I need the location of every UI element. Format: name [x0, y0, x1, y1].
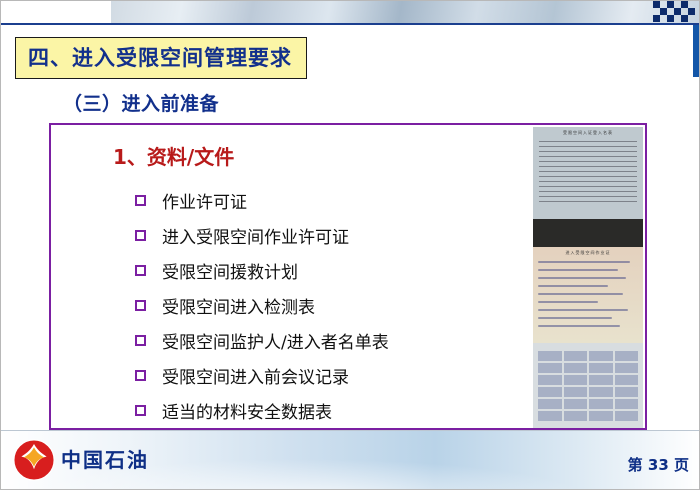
bullet-list: 作业许可证 进入受限空间作业许可证 受限空间援救计划 受限空间进入检测表 受限空…	[135, 183, 535, 428]
list-item: 适当的材料安全数据表	[135, 393, 535, 428]
square-bullet-icon	[135, 335, 146, 346]
list-item-label: 进入受限空间作业许可证	[162, 223, 349, 248]
right-accent-bar	[693, 25, 699, 77]
footer-bar: 中国石油 第 33 页	[1, 430, 700, 489]
list-item: 受限空间进入检测表	[135, 288, 535, 323]
top-banner-image	[111, 1, 700, 23]
petrochina-logo-icon	[13, 439, 55, 481]
square-bullet-icon	[135, 195, 146, 206]
slide: 四、进入受限空间管理要求 （三）进入前准备 1、资料/文件 作业许可证 进入受限…	[0, 0, 700, 490]
photo-table-lines	[539, 141, 637, 214]
list-item-label: 受限空间进入检测表	[162, 293, 315, 318]
list-item: 进入受限空间作业许可证	[135, 218, 535, 253]
photo-handwritten-form: 进入受限空间作业证	[533, 247, 643, 343]
square-bullet-icon	[135, 370, 146, 381]
page-title-text: 四、进入受限空间管理要求	[28, 42, 292, 72]
photo-caption: 受限空间入证登入名表	[533, 130, 643, 136]
photo-permit-log: 受限空间入证登入名表	[533, 127, 643, 219]
content-box: 1、资料/文件 作业许可证 进入受限空间作业许可证 受限空间援救计划 受限空间进…	[49, 123, 647, 430]
list-item-label: 适当的材料安全数据表	[162, 398, 332, 423]
list-item-label: 受限空间监护人/进入者名单表	[162, 328, 389, 353]
photo-caption: 进入受限空间作业证	[533, 250, 643, 256]
list-item-label: 受限空间进入前会议记录	[162, 363, 349, 388]
top-divider	[1, 23, 700, 25]
page-title: 四、进入受限空间管理要求	[15, 37, 307, 79]
top-band	[1, 1, 700, 25]
square-bullet-icon	[135, 405, 146, 416]
list-item: 受限空间进入前会议记录	[135, 358, 535, 393]
list-item: 作业许可证	[135, 183, 535, 218]
photo-grid-cells	[538, 351, 638, 422]
list-item-label: 作业许可证	[162, 188, 247, 213]
square-bullet-icon	[135, 265, 146, 276]
list-item: 受限空间监护人/进入者名单表	[135, 323, 535, 358]
brand-name: 中国石油	[61, 444, 149, 473]
content-heading: 1、资料/文件	[113, 141, 234, 170]
photo-strip: 受限空间入证登入名表 进入受限空间作业证	[533, 127, 643, 428]
page-number: 第 33 页	[628, 454, 689, 475]
square-bullet-icon	[135, 300, 146, 311]
checker-pattern-icon	[653, 1, 699, 23]
square-bullet-icon	[135, 230, 146, 241]
photo-dark-gap	[533, 219, 643, 247]
section-subtitle: （三）进入前准备	[63, 89, 219, 116]
list-item-label: 受限空间援救计划	[162, 258, 298, 283]
photo-checklist-table	[533, 343, 643, 428]
list-item: 受限空间援救计划	[135, 253, 535, 288]
photo-handwriting-lines	[538, 261, 638, 333]
